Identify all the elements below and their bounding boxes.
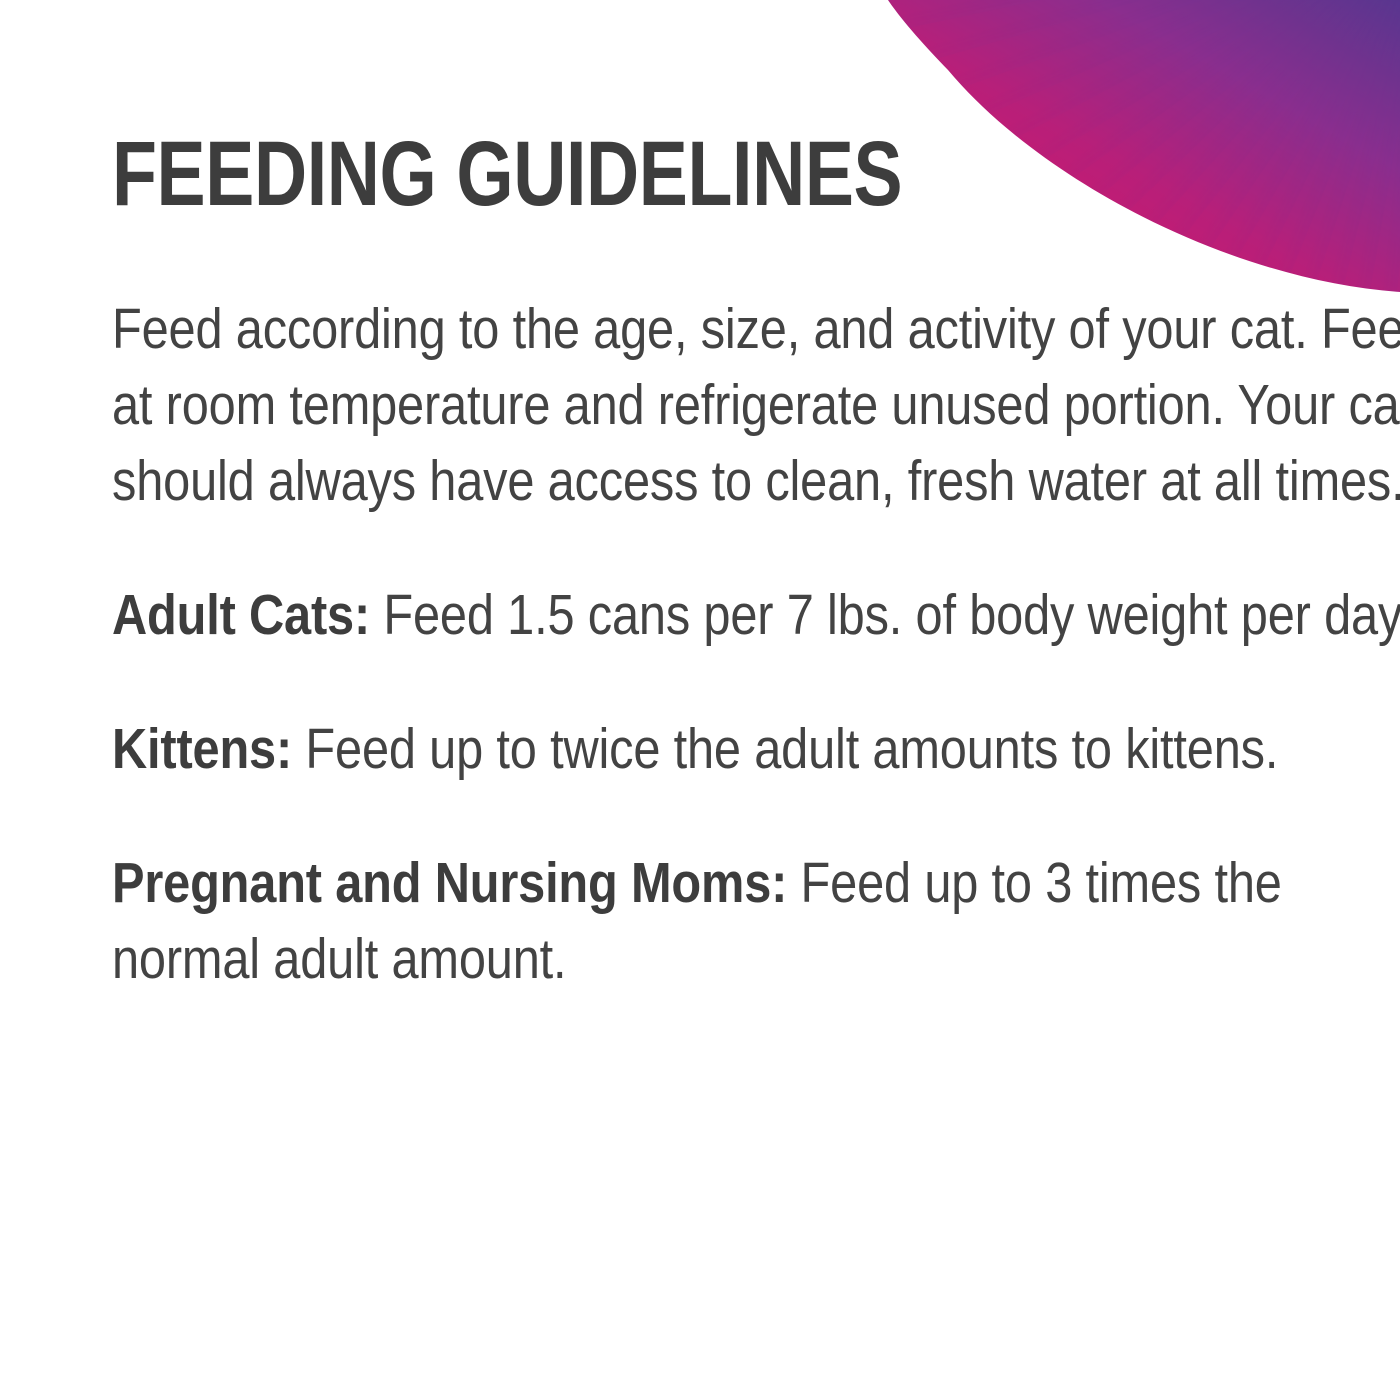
guideline-pregnant-nursing-moms: Pregnant and Nursing Moms: Feed up to 3 … <box>112 845 1400 997</box>
feeding-guidelines-page: FEEDING GUIDELINES Feed according to the… <box>0 0 1400 1400</box>
guideline-kittens: Kittens: Feed up to twice the adult amou… <box>112 711 1400 787</box>
guideline-label: Adult Cats: <box>112 583 370 647</box>
page-title: FEEDING GUIDELINES <box>112 132 1096 217</box>
guideline-label: Pregnant and Nursing Moms: <box>112 851 787 915</box>
guideline-text: Feed 1.5 cans per 7 lbs. of body weight … <box>370 583 1400 647</box>
guideline-text: Feed up to twice the adult amounts to ki… <box>292 717 1278 781</box>
guideline-label: Kittens: <box>112 717 292 781</box>
guideline-adult-cats: Adult Cats: Feed 1.5 cans per 7 lbs. of … <box>112 577 1400 653</box>
intro-paragraph: Feed according to the age, size, and act… <box>112 291 1400 519</box>
content-column: FEEDING GUIDELINES Feed according to the… <box>112 132 1342 997</box>
